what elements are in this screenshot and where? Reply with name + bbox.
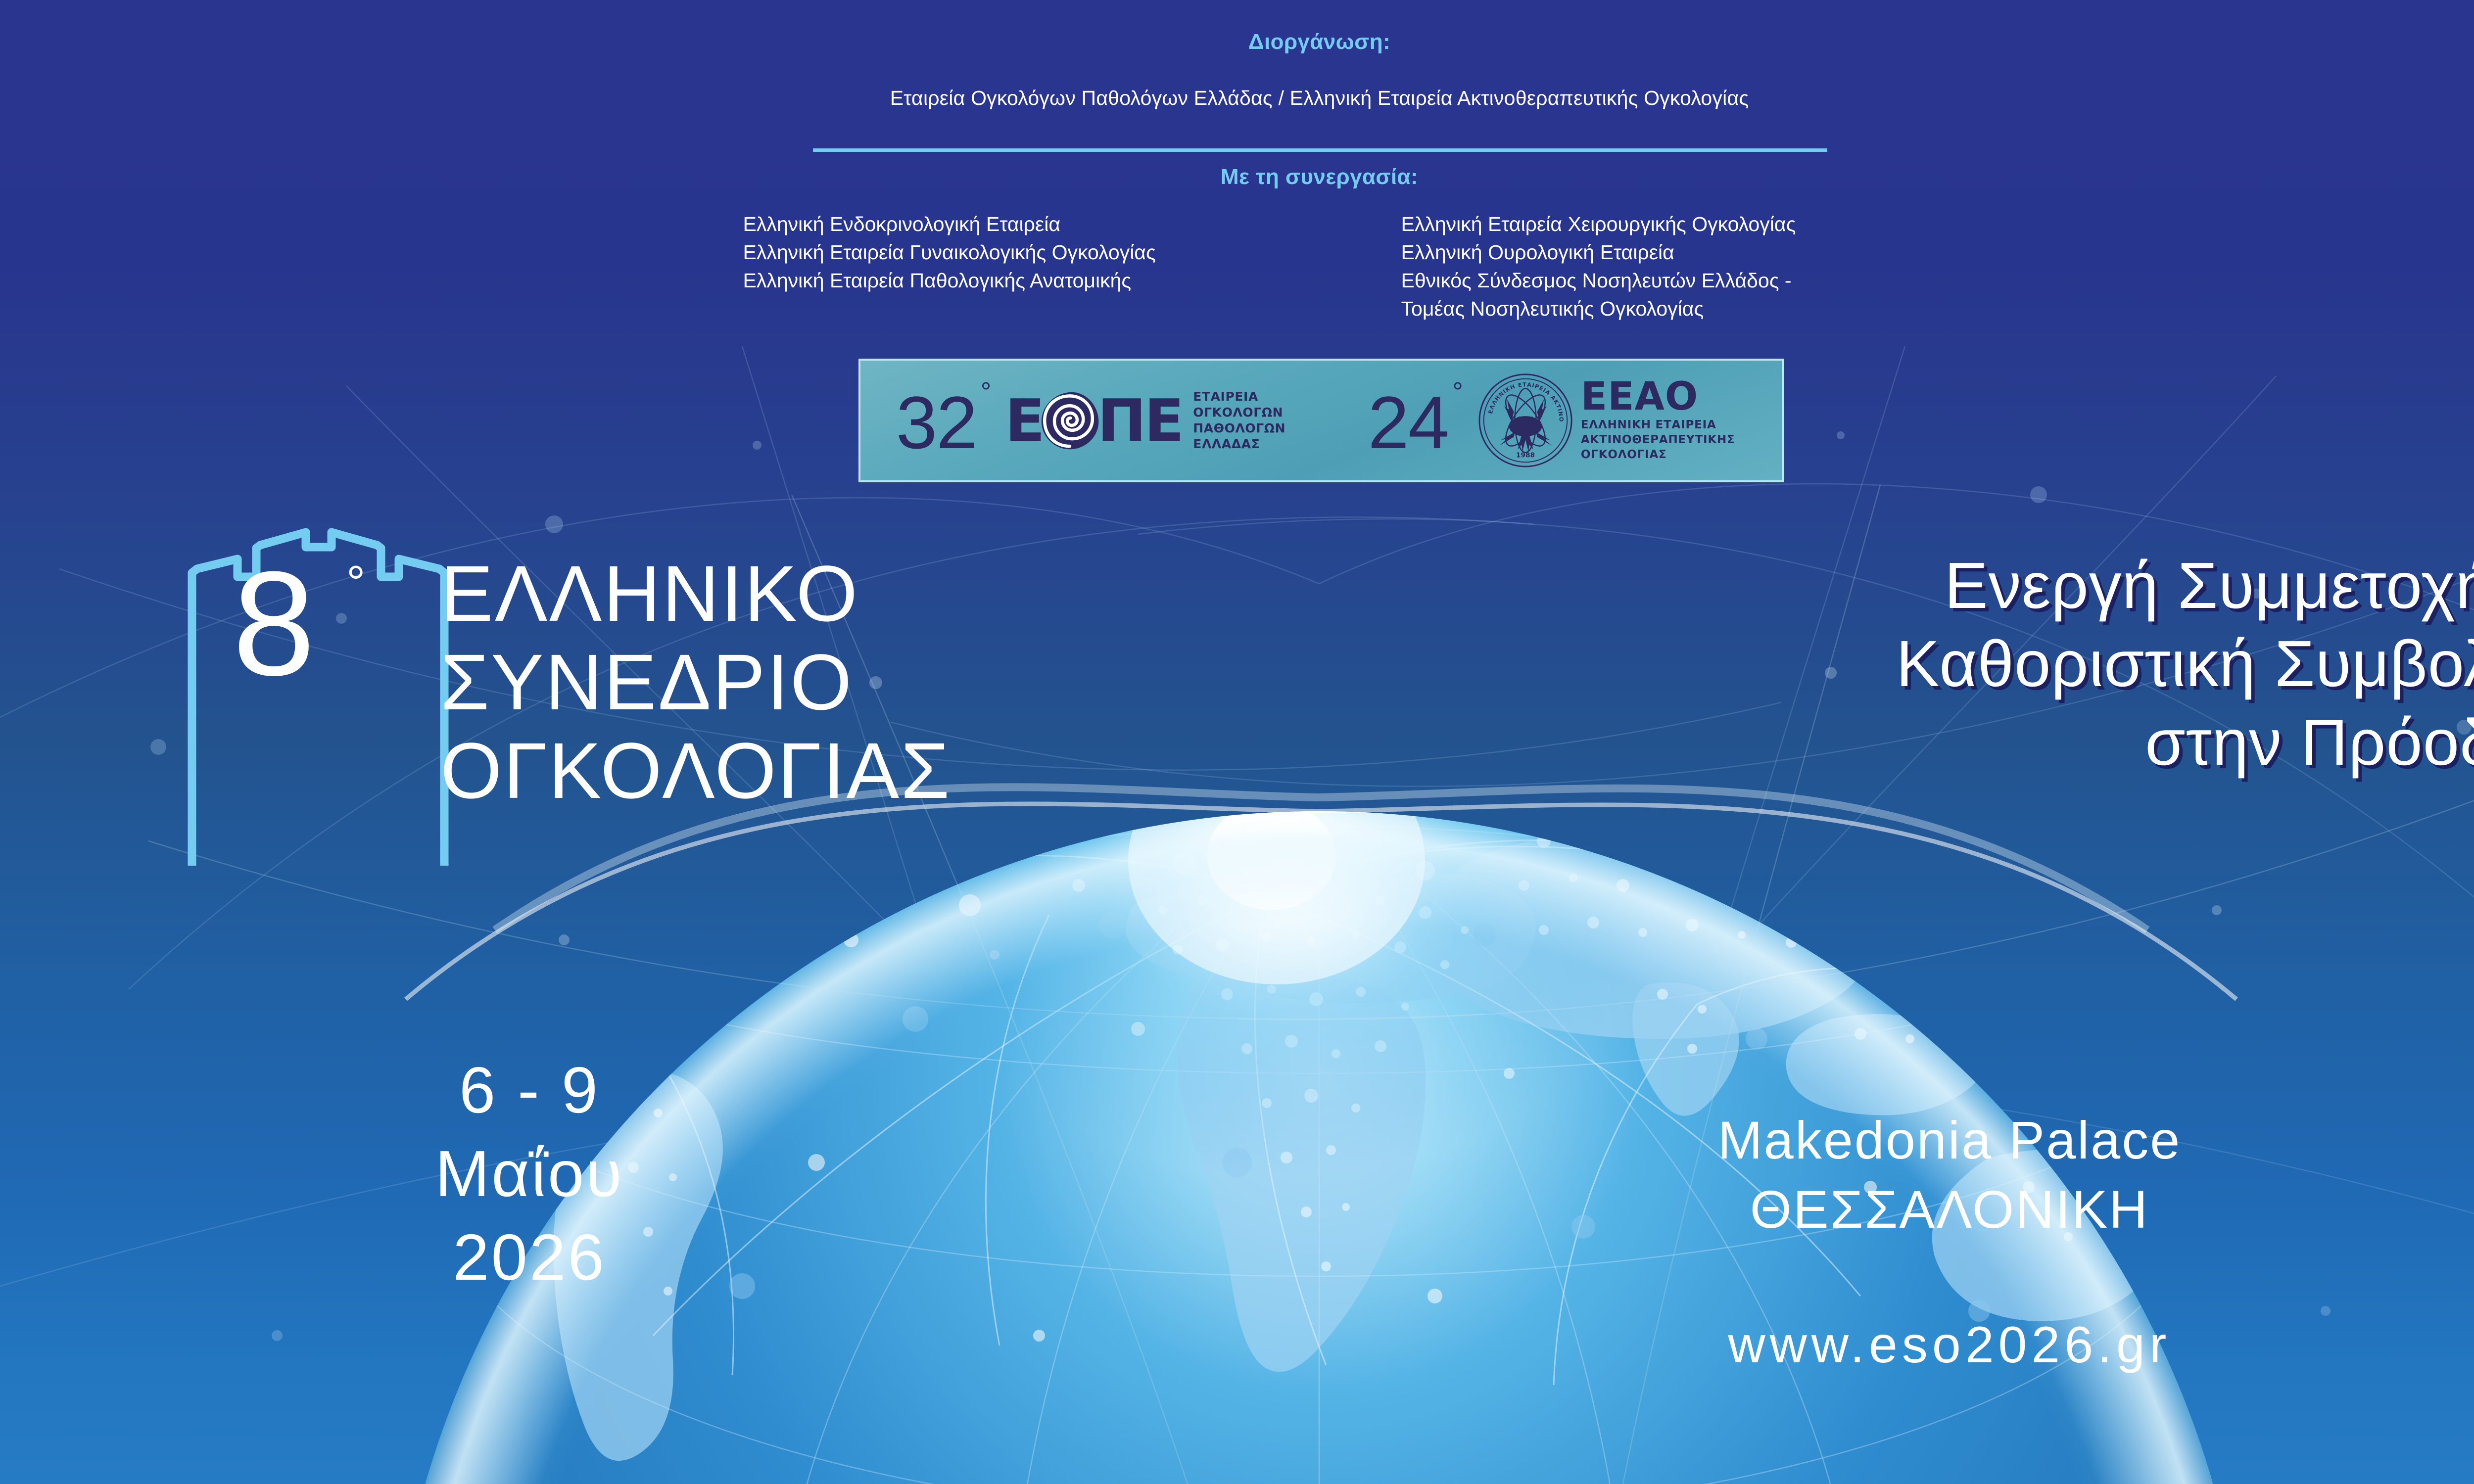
collaboration-label: Με τη συνεργασία: [0, 165, 2474, 189]
collaborator-item: Ελληνική Ενδοκρινολογική Εταιρεία [743, 210, 1238, 238]
header-divider [813, 148, 1827, 152]
eope-spiral-theta-icon [1039, 390, 1100, 451]
collaborator-item: Εθνικός Σύνδεσμος Νοσηλευτών Ελλάδος - Τ… [1401, 267, 1896, 323]
eeao-logo-group: 24 ° ΕΛΛΗΝΙΚΗ ΕΤΑΙΡΕΙΑ ΑΚΤΙΝΟΘΕΡΑΠΕΥΤΙΚΗ… [1321, 361, 1782, 480]
eeao-seal-crab-icon: ΕΛΛΗΝΙΚΗ ΕΤΑΙΡΕΙΑ ΑΚΤΙΝΟΘΕΡΑΠΕΥΤΙΚΗΣ ΟΓΚ… [1477, 372, 1574, 469]
eope-subtitle-line-1: ΕΤΑΙΡΕΙΑ [1193, 389, 1285, 405]
eope-logo-group: 32 ° Ε ΠΕ ΕΤΑΙΡΕΙΑ ΟΓΚΟΛΟΓΩΝ ΠΑΘΟΛΟΓΩΝ Ε [860, 361, 1321, 480]
congress-venue: Makedonia Palace ΘΕΣΣΑΛΟΝΙΚΗ [1573, 1106, 2326, 1245]
eope-subtitle-line-3: ΠΑΘΟΛΟΓΩΝ [1193, 420, 1285, 436]
collaborator-item: Ελληνική Εταιρεία Παθολογικής Ανατομικής [743, 267, 1238, 295]
eope-letters-pi-epsilon: ΠΕ [1097, 391, 1182, 450]
collaborator-item: Ελληνική Εταιρεία Χειρουργικής Ογκολογία… [1401, 210, 1896, 238]
congress-slogan: Ενεργή Συμμετοχή - Καθοριστική Συμβολή σ… [1435, 547, 2474, 782]
eope-wordmark: Ε ΠΕ [1005, 390, 1182, 451]
collaborator-item: Ελληνική Εταιρεία Γυναικολογικής Ογκολογ… [743, 238, 1238, 267]
poster-canvas: Διοργάνωση: Εταιρεία Ογκολόγων Παθολόγων… [0, 0, 2474, 1484]
organizer-value: Εταιρεία Ογκολόγων Παθολόγων Ελλάδας / Ε… [0, 87, 2474, 110]
congress-edition-number: 8 [233, 549, 312, 697]
eope-subtitle-line-4: ΕΛΛΑΔΑΣ [1193, 436, 1285, 452]
congress-title: ΕΛΛΗΝΙΚΟ ΣΥΝΕΔΡΙΟ ΟΓΚΟΛΟΓΙΑΣ [440, 549, 951, 815]
eeao-edition-number: 24 [1368, 389, 1448, 456]
society-logo-bar: 32 ° Ε ΠΕ ΕΤΑΙΡΕΙΑ ΟΓΚΟΛΟΓΩΝ ΠΑΘΟΛΟΓΩΝ Ε [858, 359, 1784, 482]
collaborators-column-right: Ελληνική Εταιρεία Χειρουργικής Ογκολογία… [1401, 210, 1896, 323]
congress-website-link[interactable]: www.eso2026.gr [1573, 1316, 2326, 1375]
eeao-subtitle: ΕΛΛΗΝΙΚΗ ΕΤΑΙΡΕΙΑ ΑΚΤΙΝΟΘΕΡΑΠΕΥΤΙΚΗΣ ΟΓΚ… [1581, 418, 1735, 463]
eope-subtitle: ΕΤΑΙΡΕΙΑ ΟΓΚΟΛΟΓΩΝ ΠΑΘΟΛΟΓΩΝ ΕΛΛΑΔΑΣ [1193, 389, 1285, 452]
congress-edition-degree: ° [346, 559, 365, 606]
eope-edition-number: 32 [896, 389, 977, 456]
eope-degree-symbol: ° [981, 376, 992, 407]
eeao-acronym: ΕΕΑΟ [1581, 378, 1735, 415]
collaborators-columns: Ελληνική Ενδοκρινολογική Εταιρεία Ελληνι… [0, 210, 2474, 323]
collaborator-item: Ελληνική Ουρολογική Εταιρεία [1401, 238, 1896, 267]
collaborators-column-left: Ελληνική Ενδοκρινολογική Εταιρεία Ελληνι… [743, 210, 1238, 323]
organizer-label: Διοργάνωση: [0, 30, 2474, 54]
eeao-degree-symbol: ° [1452, 376, 1463, 407]
congress-dates: 6 - 9 Μαΐου 2026 [267, 1049, 792, 1299]
eope-subtitle-line-2: ΟΓΚΟΛΟΓΩΝ [1193, 405, 1285, 420]
white-tower-outline-icon [183, 490, 450, 866]
eope-letter-epsilon: Ε [1005, 391, 1043, 450]
